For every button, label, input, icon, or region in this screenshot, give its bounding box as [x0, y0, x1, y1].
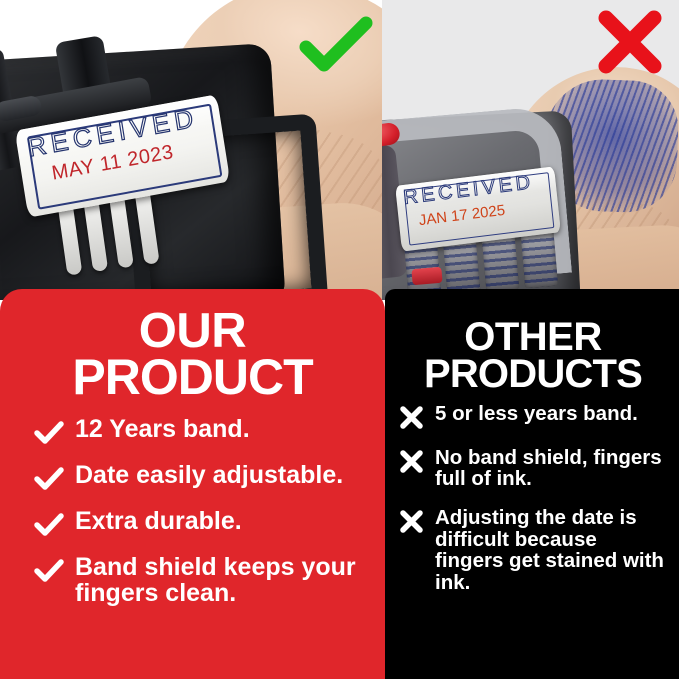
our-product-feature-list: 12 Years band. Date easily adjustable. E…	[14, 417, 371, 607]
list-item-label: 5 or less years band.	[435, 403, 638, 425]
list-item: No band shield, fingers full of ink.	[399, 447, 669, 490]
check-icon	[34, 558, 64, 584]
photo-row: RECEIVED MAY 11 2023	[0, 0, 679, 300]
check-icon	[34, 466, 64, 492]
our-product-title: OUR PRODUCT	[14, 303, 371, 401]
green-check-icon	[298, 16, 374, 74]
date-band	[482, 233, 520, 292]
x-icon	[399, 449, 424, 474]
list-item-label: No band shield, fingers full of ink.	[435, 447, 669, 490]
list-item: Date easily adjustable.	[34, 463, 371, 492]
list-item-label: Date easily adjustable.	[75, 463, 343, 489]
list-item: Extra durable.	[34, 509, 371, 538]
comparison-panels: OUR PRODUCT 12 Years band. Date easily a…	[0, 289, 679, 679]
x-icon	[399, 509, 424, 534]
other-products-photo: RECEIVED JAN 17 2025	[382, 0, 679, 300]
x-icon	[399, 405, 424, 430]
comparison-infographic: RECEIVED MAY 11 2023	[0, 0, 679, 679]
check-icon	[34, 420, 64, 446]
list-item-label: Extra durable.	[75, 509, 242, 535]
our-product-photo: RECEIVED MAY 11 2023	[0, 0, 382, 300]
list-item-label: Adjusting the date is difficult because …	[435, 507, 669, 594]
title-line-2: PRODUCTS	[424, 352, 642, 396]
other-products-title: OTHER PRODUCTS	[397, 309, 669, 393]
band-shield-tab	[84, 203, 108, 272]
date-band	[520, 230, 558, 289]
red-x-icon	[594, 8, 666, 76]
our-product-panel: OUR PRODUCT 12 Years band. Date easily a…	[0, 289, 385, 679]
check-icon	[34, 512, 64, 538]
title-line-2: PRODUCT	[72, 349, 312, 405]
list-item-label: Band shield keeps your fingers clean.	[75, 555, 371, 607]
list-item-label: 12 Years band.	[75, 417, 250, 443]
other-products-drawback-list: 5 or less years band. No band shield, fi…	[397, 403, 669, 594]
band-shield-tab	[110, 199, 134, 268]
other-products-panel: OTHER PRODUCTS 5 or less years band. No …	[385, 289, 679, 679]
list-item: 5 or less years band.	[399, 403, 669, 430]
list-item: 12 Years band.	[34, 417, 371, 446]
band-shield-tab	[135, 195, 159, 264]
list-item: Adjusting the date is difficult because …	[399, 507, 669, 594]
red-pad-tab	[411, 267, 442, 286]
list-item: Band shield keeps your fingers clean.	[34, 555, 371, 607]
